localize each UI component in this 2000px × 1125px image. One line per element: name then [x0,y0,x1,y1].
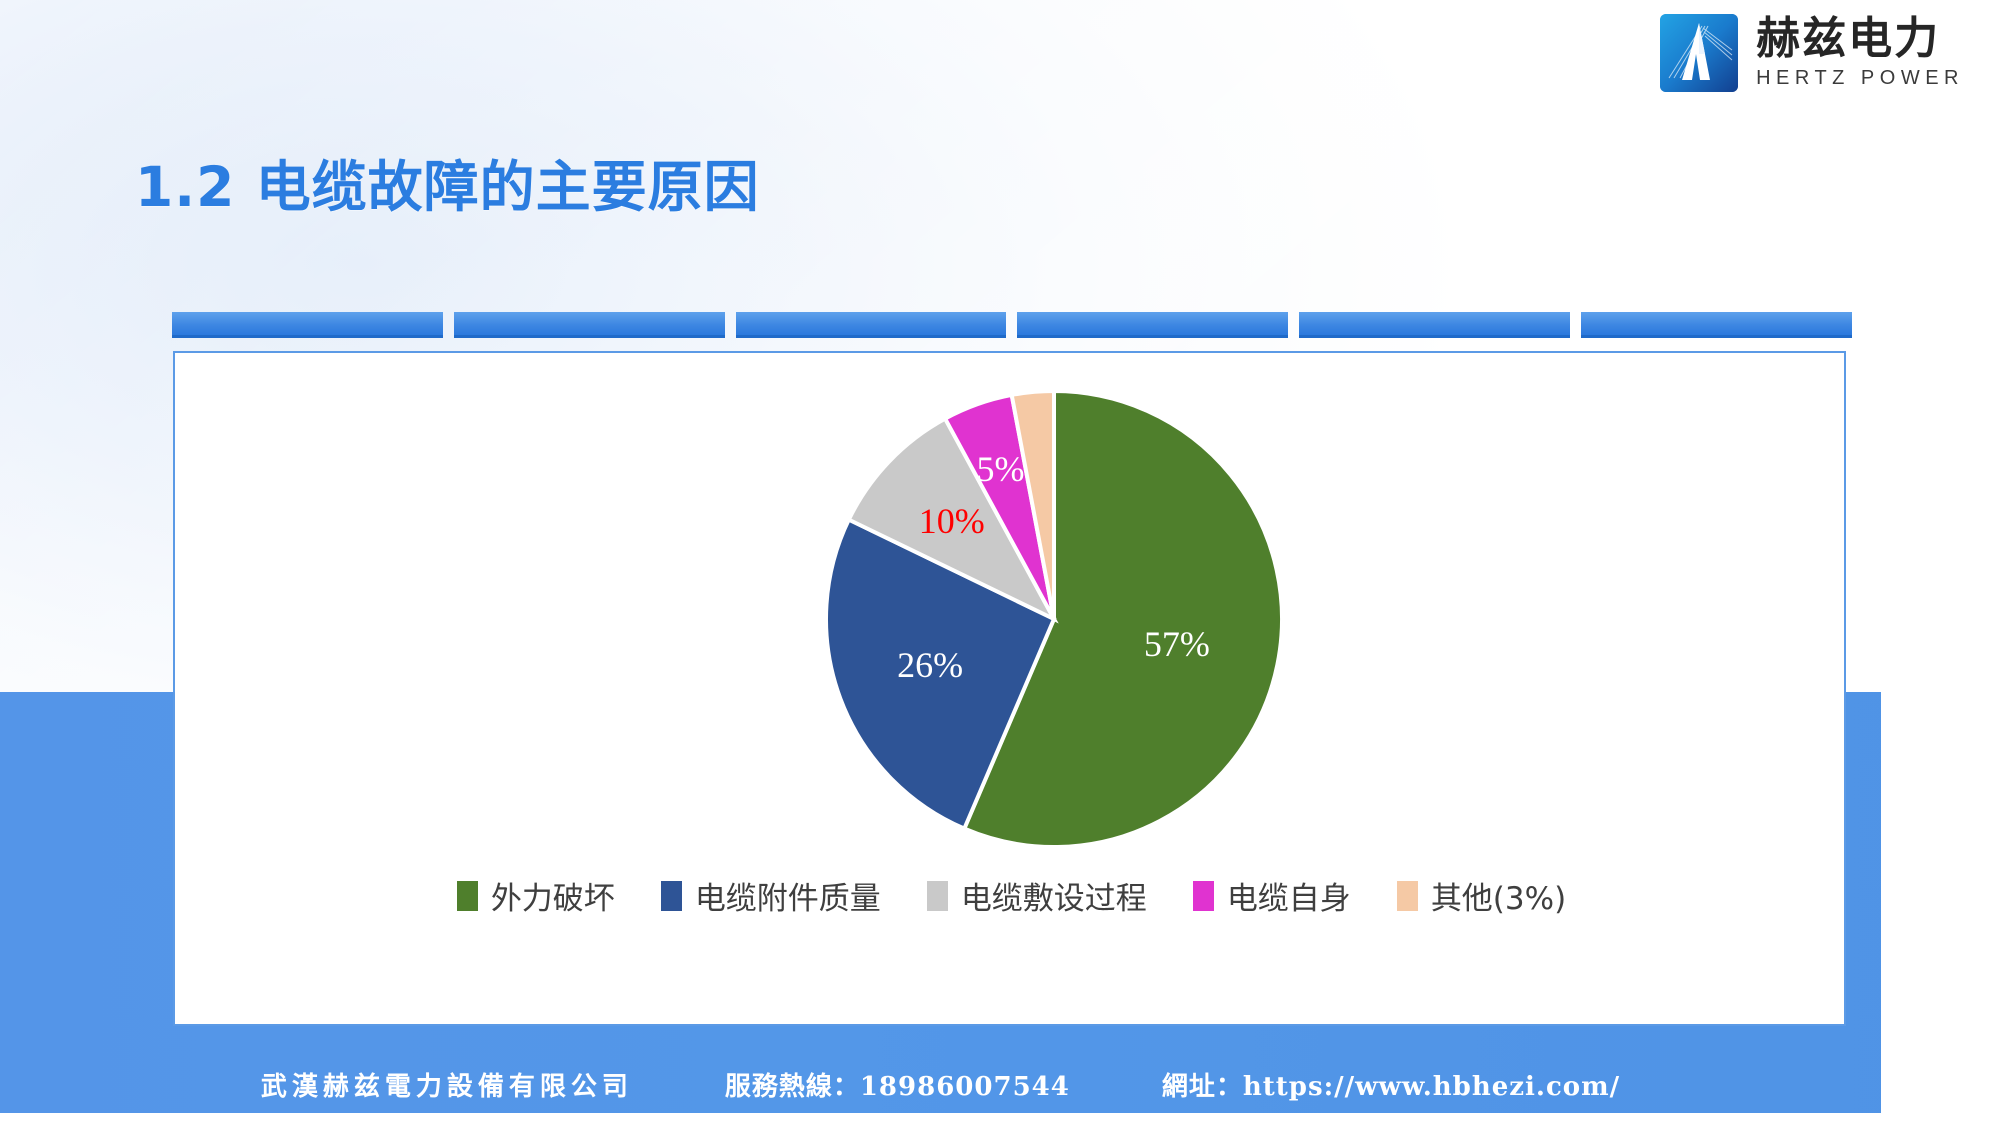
legend-color-swatch [1397,881,1418,911]
slide-footer: 武漢赫兹電力設備有限公司 服務熱線：18986007544 網址：https:/… [0,1058,1881,1110]
content-panel: 57% 26% 10% 5% 外力破坏电缆附件质量电缆敷设过程电缆自身其他(3%… [173,351,1846,1026]
legend-color-swatch [1193,881,1214,911]
legend-item-label: 电缆敷设过程 [961,873,1147,918]
legend-item: 外力破坏 [457,873,615,918]
footer-hotline: 服務熱線：18986007544 [725,1066,1070,1103]
legend-item: 电缆附件质量 [661,873,881,918]
legend-color-swatch [927,881,948,911]
logo-chinese-name: 赫兹电力 [1756,16,1940,62]
logo-text-block: 赫兹电力 HERTZ POWER [1756,16,1964,89]
tab-bar-segment [1581,312,1852,338]
legend-color-swatch [457,881,478,911]
background-bottom-margin [0,1113,2000,1125]
bridge-tower-logo-icon [1660,14,1738,92]
legend-item-label: 电缆自身 [1227,873,1351,918]
footer-company-name: 武漢赫兹電力設備有限公司 [261,1066,633,1103]
background-right-margin [1881,692,2000,1125]
pie-chart: 57% 26% 10% 5% 外力破坏电缆附件质量电缆敷设过程电缆自身其他(3%… [175,353,1848,1028]
tab-bar-segment [736,312,1007,338]
company-logo: 赫兹电力 HERTZ POWER [1660,14,1964,92]
chart-legend: 外力破坏电缆附件质量电缆敷设过程电缆自身其他(3%) [175,873,1848,918]
legend-item-label: 外力破坏 [491,873,615,918]
decorative-tab-bar [172,312,1852,338]
tab-bar-segment [1017,312,1288,338]
pie-chart-graphic [820,385,1288,853]
legend-item: 电缆敷设过程 [927,873,1147,918]
tab-bar-segment [1299,312,1570,338]
legend-color-swatch [661,881,682,911]
tab-bar-segment [172,312,443,338]
legend-item: 其他(3%) [1397,873,1566,918]
legend-item-label: 电缆附件质量 [695,873,881,918]
slide: 赫兹电力 HERTZ POWER 1.2 电缆故障的主要原因 57% 26% 1… [0,0,2000,1125]
footer-website[interactable]: 網址：https://www.hbhezi.com/ [1162,1066,1620,1103]
logo-english-name: HERTZ POWER [1756,67,1964,90]
page-title: 1.2 电缆故障的主要原因 [135,142,760,222]
tab-bar-segment [454,312,725,338]
pie-slices [820,385,1288,853]
legend-item-label: 其他(3%) [1431,873,1566,918]
legend-item: 电缆自身 [1193,873,1351,918]
